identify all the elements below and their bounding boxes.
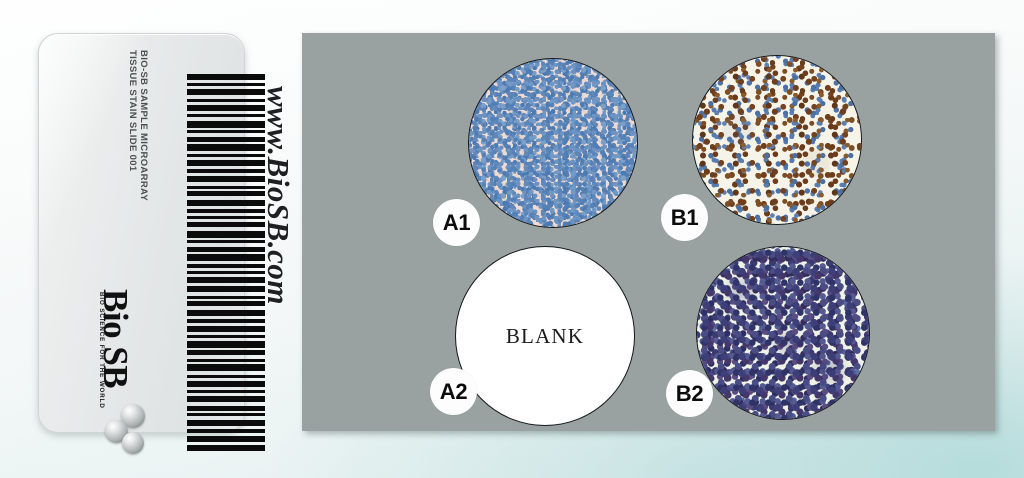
label-line-product: BIO-SB SAMPLE MICROARRAY: [138, 50, 149, 201]
core-badge-a2: A2: [430, 368, 477, 415]
tissue-texture-a1: [468, 58, 638, 228]
blank-core-label: BLANK: [456, 247, 634, 425]
tissue-texture-b2: [696, 246, 870, 420]
logo-sphere-icon: [122, 432, 144, 454]
label-line-slide-id: TISSUE STAIN SLIDE 001: [127, 50, 138, 172]
barcode-space: [187, 451, 265, 456]
biosb-logo: Bio SB BIO SCIENCE FOR THE WORLD: [91, 289, 153, 457]
tissue-panel: [302, 33, 995, 431]
core-badge-a1: A1: [433, 199, 480, 246]
tissue-core-a2: BLANK: [455, 246, 635, 426]
barcode: [187, 74, 265, 457]
tissue-core-b2: [696, 246, 870, 420]
tissue-core-a1: [468, 58, 638, 228]
slide-photo: BIO-SB SAMPLE MICROARRAY TISSUE STAIN SL…: [0, 0, 1024, 478]
core-badge-b2: B2: [666, 370, 713, 417]
biosb-tagline: BIO SCIENCE FOR THE WORLD: [98, 292, 105, 409]
tissue-core-b1: [692, 55, 862, 225]
tissue-texture-b1: [692, 55, 862, 225]
core-badge-b1: B1: [661, 194, 708, 241]
slide-label: BIO-SB SAMPLE MICROARRAY TISSUE STAIN SL…: [38, 33, 245, 433]
website-text: www.BioSB.com: [260, 86, 296, 305]
